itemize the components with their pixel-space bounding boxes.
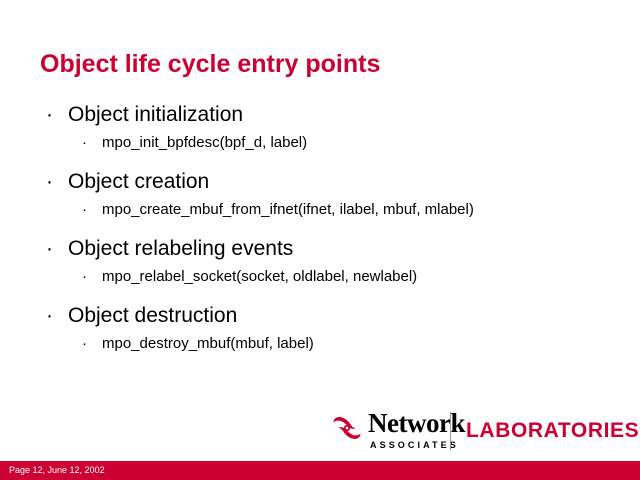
sub-bullet-dot-icon: · bbox=[82, 331, 94, 357]
bullet-dot-icon: · bbox=[46, 100, 58, 130]
footer-page-info: Page 12, June 12, 2002 bbox=[9, 465, 105, 476]
bullet-item-level1-label: Object creation bbox=[68, 170, 209, 193]
network-associates-laboratories-logo: Network ASSOCIATES LABORATORIES bbox=[330, 408, 630, 452]
spacer bbox=[40, 290, 620, 301]
sub-bullet-dot-icon: · bbox=[82, 197, 94, 223]
bullet-group: · Object relabeling events · mpo_relabel… bbox=[40, 234, 620, 301]
sub-bullet-dot-icon: · bbox=[82, 130, 94, 156]
logo-suffix-text: LABORATORIES bbox=[466, 420, 639, 442]
bullet-item-level1-label: Object relabeling events bbox=[68, 237, 293, 260]
logo-secondary-text: ASSOCIATES bbox=[370, 439, 474, 451]
bullet-list: · Object initialization · mpo_init_bpfde… bbox=[40, 100, 620, 357]
bullet-item-level1: · Object destruction bbox=[40, 301, 620, 331]
bullet-item-level1: · Object initialization bbox=[40, 100, 620, 130]
spacer bbox=[40, 223, 620, 234]
bullet-item-level2-label: mpo_init_bpfdesc(bpf_d, label) bbox=[102, 134, 307, 151]
bullet-item-level1: · Object creation bbox=[40, 167, 620, 197]
bullet-dot-icon: · bbox=[46, 234, 58, 264]
footer-bar: Page 12, June 12, 2002 bbox=[0, 461, 640, 480]
bullet-group: · Object initialization · mpo_init_bpfde… bbox=[40, 100, 620, 167]
bullet-item-level1-label: Object initialization bbox=[68, 103, 243, 126]
slide: Object life cycle entry points · Object … bbox=[0, 0, 640, 480]
bullet-dot-icon: · bbox=[46, 301, 58, 331]
bullet-group: · Object creation · mpo_create_mbuf_from… bbox=[40, 167, 620, 234]
bullet-dot-icon: · bbox=[46, 167, 58, 197]
bullet-item-level2: · mpo_destroy_mbuf(mbuf, label) bbox=[40, 331, 620, 357]
bullet-item-level2: · mpo_create_mbuf_from_ifnet(ifnet, ilab… bbox=[40, 197, 620, 223]
spacer bbox=[40, 156, 620, 167]
network-associates-shield-icon bbox=[332, 416, 362, 440]
logo-divider bbox=[450, 412, 451, 450]
bullet-item-level2-label: mpo_create_mbuf_from_ifnet(ifnet, ilabel… bbox=[102, 201, 474, 218]
bullet-item-level1: · Object relabeling events bbox=[40, 234, 620, 264]
bullet-item-level2: · mpo_relabel_socket(socket, oldlabel, n… bbox=[40, 264, 620, 290]
network-associates-wordmark: Network ASSOCIATES bbox=[368, 410, 474, 451]
bullet-item-level2-label: mpo_destroy_mbuf(mbuf, label) bbox=[102, 335, 314, 352]
sub-bullet-dot-icon: · bbox=[82, 264, 94, 290]
bullet-item-level2-label: mpo_relabel_socket(socket, oldlabel, new… bbox=[102, 268, 417, 285]
bullet-group: · Object destruction · mpo_destroy_mbuf(… bbox=[40, 301, 620, 357]
page-title: Object life cycle entry points bbox=[40, 50, 380, 79]
bullet-item-level2: · mpo_init_bpfdesc(bpf_d, label) bbox=[40, 130, 620, 156]
bullet-item-level1-label: Object destruction bbox=[68, 304, 237, 327]
